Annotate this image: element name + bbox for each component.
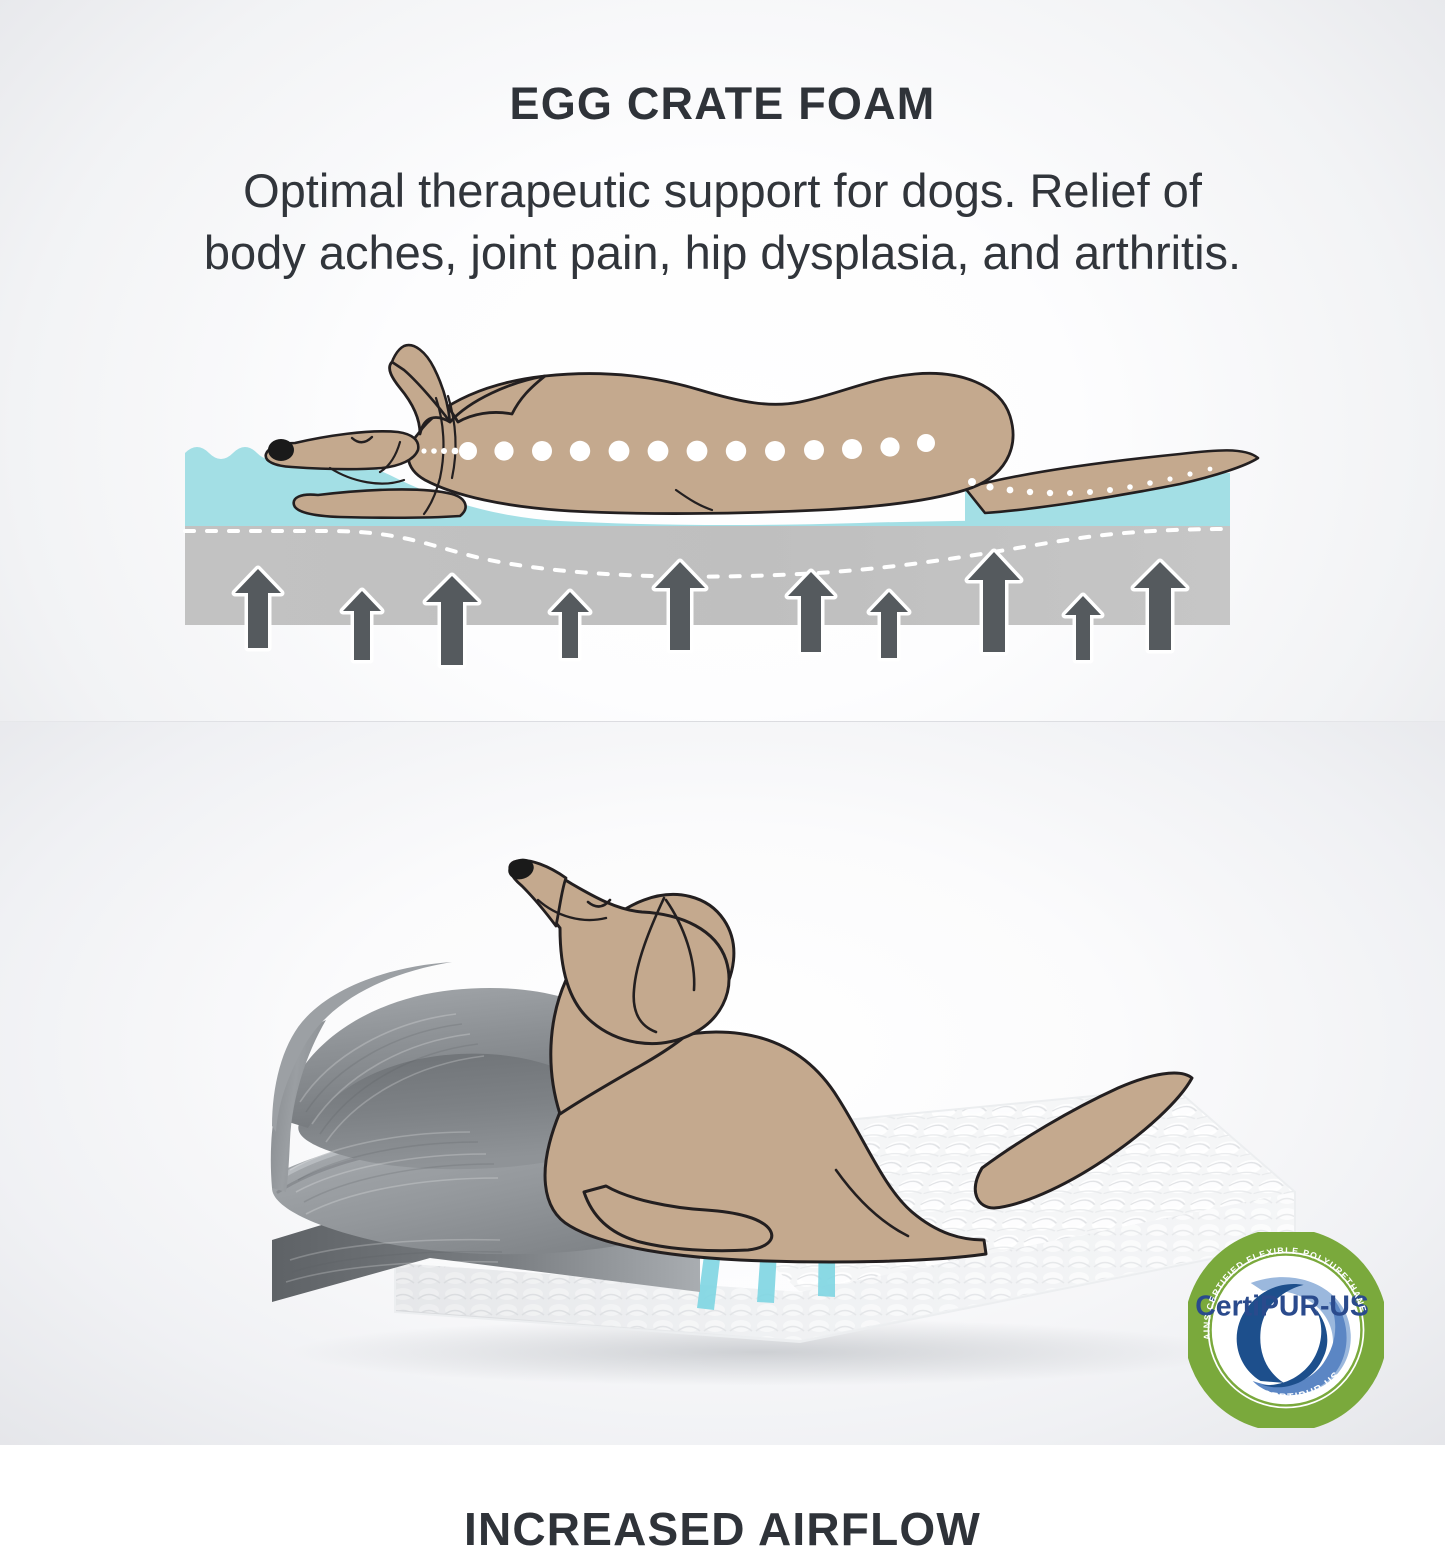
panel-title-increased-airflow: INCREASED AIRFLOW — [0, 1502, 1445, 1556]
badge-brand-text: CertiPUR-US — [1195, 1290, 1369, 1322]
panel-title-egg-crate-foam: EGG CRATE FOAM — [0, 78, 1445, 130]
subtitle-line-1: Optimal therapeutic support for dogs. Re… — [90, 160, 1355, 222]
panel-egg-crate-foam: EGG CRATE FOAM Optimal therapeutic suppo… — [0, 0, 1445, 722]
dog-front-leg — [294, 489, 466, 517]
panel-subtitle-egg-crate-foam: Optimal therapeutic support for dogs. Re… — [90, 160, 1355, 284]
infographic-canvas: EGG CRATE FOAM Optimal therapeutic suppo… — [0, 0, 1445, 1445]
illustration-dog-on-foam-cross-section — [0, 330, 1445, 670]
dog-figure-lying — [266, 345, 1258, 518]
subtitle-line-2: body aches, joint pain, hip dysplasia, a… — [90, 222, 1355, 284]
dog-nose — [268, 439, 294, 461]
certipur-us-badge: CertiPUR-US ® CONTAINS CERTIFIED FLEXIBL… — [1188, 1232, 1384, 1428]
